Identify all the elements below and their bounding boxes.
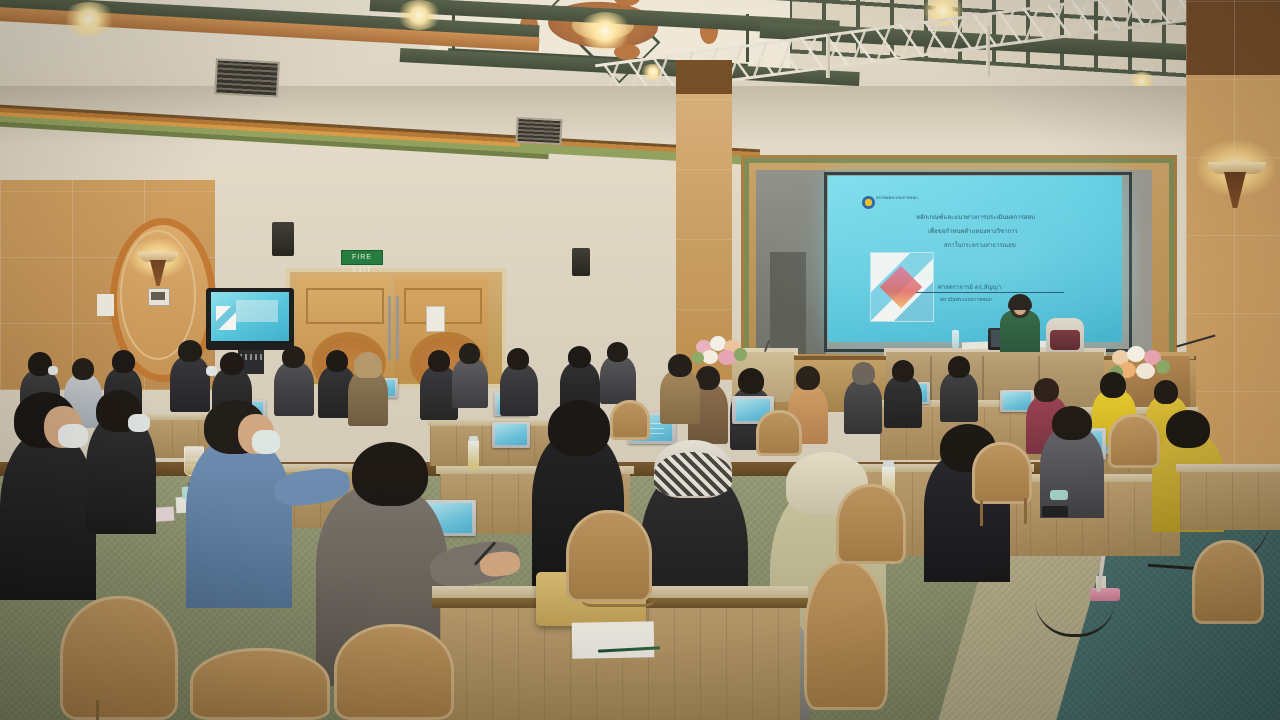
column-panel-seams [1186, 0, 1280, 470]
attendee-hair [507, 348, 529, 370]
truss-drop-rod [826, 34, 830, 78]
water-bottle [468, 440, 479, 470]
banquet-chair [60, 596, 178, 720]
face-mask [48, 366, 58, 375]
bottle-cap [883, 461, 894, 467]
banquet-chair [804, 560, 888, 710]
hvac-vent-grille [214, 58, 280, 97]
attendee-body [660, 370, 700, 424]
face-mask [128, 414, 150, 432]
recessed-downlight [396, 0, 442, 30]
attendee-body [186, 438, 292, 608]
truss-drop-rod [986, 26, 990, 76]
face-mask [58, 424, 88, 448]
banquet-chair [972, 442, 1032, 504]
face-mask [206, 366, 217, 376]
attendee-body [884, 376, 922, 428]
door-notice-paper [426, 306, 445, 332]
attendee-body-foreground [0, 430, 96, 600]
banquet-chair [190, 648, 330, 720]
pilaster-top-band [676, 60, 732, 94]
attendee-body [600, 356, 636, 404]
wall-speaker [572, 248, 590, 276]
attendee-hair [548, 400, 610, 456]
banquet-chair [610, 400, 650, 440]
floral-arrangement [692, 336, 748, 370]
attendee-hair [1100, 372, 1126, 398]
banquet-chair [756, 410, 802, 456]
chair-leg [1024, 498, 1027, 524]
attendee-hair [178, 340, 202, 362]
monitor-slide-emblem [216, 306, 236, 330]
monitor-slide-textbox [236, 300, 278, 322]
banquet-chair [566, 510, 652, 602]
attendee-hair [326, 350, 348, 372]
wall-notice-paper [97, 294, 114, 316]
attendee-hair [948, 356, 970, 378]
wall-speaker [272, 222, 294, 256]
attendee-body [170, 356, 210, 412]
banquet-chair [836, 484, 906, 564]
banquet-chair [1192, 540, 1264, 624]
banquet-chair [1108, 414, 1160, 468]
bottle-cap [469, 436, 478, 441]
water-bottle [952, 330, 959, 348]
hvac-vent-grille [515, 117, 562, 145]
handbag [1050, 330, 1080, 350]
headscarf-pattern [654, 452, 732, 496]
attendee-table-top [1176, 464, 1280, 472]
small-accessory [1050, 490, 1068, 500]
fire-exit-sign: FIRE EXIT [341, 250, 383, 265]
attendee-body [844, 380, 882, 434]
attendee-body [500, 364, 538, 416]
attendee-hair [668, 354, 692, 377]
attendee-hair [607, 342, 628, 362]
recessed-downlight [578, 12, 632, 50]
headscarf [354, 352, 382, 378]
attendee-body [274, 362, 314, 416]
document-sheet [572, 621, 655, 658]
wall-control-panel-screen [151, 292, 165, 300]
attendee-body [940, 372, 978, 422]
attendee-hair [428, 350, 450, 372]
chair-leg [980, 500, 983, 526]
laptop-screen [495, 424, 527, 445]
attendee-hair [459, 343, 480, 364]
attendee-hair [738, 368, 764, 394]
attendee-hair [220, 352, 244, 375]
mobile-phone [1042, 506, 1068, 517]
door-panel-upper [306, 288, 384, 324]
attendee-hair [852, 362, 875, 385]
attendee-table [1180, 470, 1280, 530]
attendee-hair [112, 350, 135, 373]
recessed-downlight [62, 2, 116, 36]
attendee-hair [282, 346, 305, 368]
attendee-hair [892, 360, 914, 382]
door-handle[interactable] [396, 296, 399, 360]
banquet-chair [334, 624, 454, 720]
attendee-body-hijab [348, 370, 388, 426]
door-handle[interactable] [388, 296, 391, 360]
document-sheet [962, 342, 988, 350]
face-mask [252, 430, 280, 454]
attendee-hair [1052, 406, 1092, 440]
mobile-phone [556, 476, 584, 488]
attendee-hair [352, 442, 428, 506]
attendee-hair [1034, 378, 1059, 402]
attendee-hair [568, 346, 591, 368]
attendee-hair [796, 366, 820, 390]
chair-leg [96, 700, 99, 720]
pilaster-seams [676, 60, 732, 380]
conference-hall-photo: FIRE EXIT สถาบันพระบรมราชชนก หลักเกณฑ์แล… [0, 0, 1280, 720]
attendee-body [452, 358, 488, 408]
laptop-screen [1003, 392, 1031, 410]
attendee-hair [1166, 410, 1210, 448]
attendee-hair [1154, 380, 1178, 404]
attendee-body [86, 414, 156, 534]
attendee-hair [72, 358, 94, 380]
